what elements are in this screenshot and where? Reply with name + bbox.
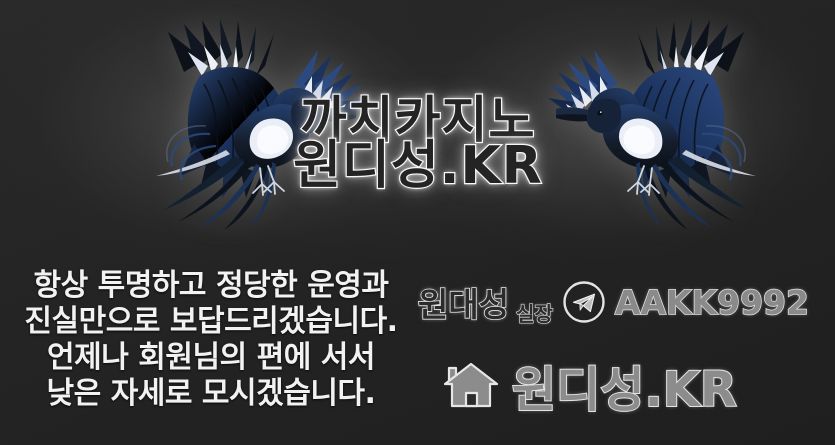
contact-name: 원대성 bbox=[418, 278, 509, 326]
brand-title-line-2: 원디성.KR bbox=[268, 142, 568, 192]
slogan-line-1: 항상 투명하고 정당한 운영과 bbox=[16, 268, 406, 304]
slogan-line-3: 언제나 회원님의 편에 서서 bbox=[16, 340, 406, 376]
domain-row: 원디성.KR bbox=[442, 350, 832, 420]
home-icon[interactable] bbox=[442, 359, 500, 411]
domain-url[interactable]: 원디성.KR bbox=[512, 350, 737, 420]
slogan-block: 항상 투명하고 정당한 운영과 진실만으로 보답드리겠습니다. 언제나 회원님의… bbox=[16, 268, 406, 412]
contact-row: 원대성 실장 AAKK9992 bbox=[418, 272, 828, 332]
slogan-line-4: 낮은 자세로 모시겠습니다. bbox=[16, 376, 406, 412]
telegram-icon[interactable] bbox=[562, 280, 606, 324]
telegram-id[interactable]: AAKK9992 bbox=[615, 283, 809, 322]
contact-role: 실장 bbox=[516, 298, 553, 327]
brand-title: 까치카지노 원디성.KR bbox=[268, 96, 568, 192]
slogan-line-2: 진실만으로 보답드리겠습니다. bbox=[16, 304, 406, 340]
casino-banner: 까치카지노 원디성.KR 항상 투명하고 정당한 운영과 진실만으로 보답드리겠… bbox=[0, 0, 835, 445]
